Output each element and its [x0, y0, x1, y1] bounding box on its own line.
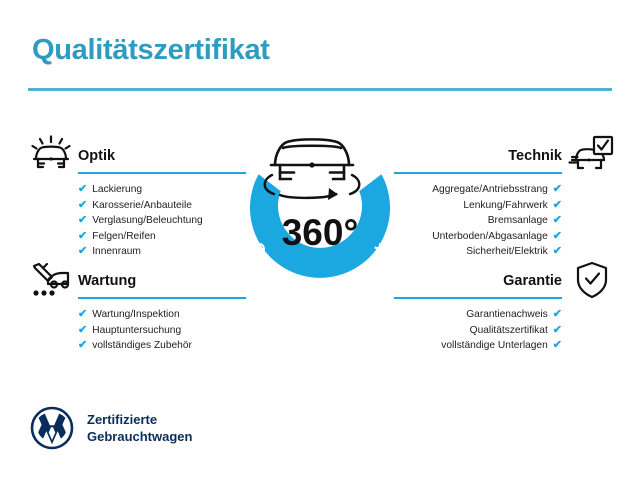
list-item: vollständige Unterlagen✔: [394, 338, 562, 354]
list-item: ✔vollständiges Zubehör: [78, 338, 246, 354]
check-icon: ✔: [553, 198, 562, 214]
section-garantie: Garantie Garantienachweis✔ Qualitätszert…: [394, 271, 562, 354]
section-optik-underline: [78, 172, 246, 174]
list-item: Aggregate/Antriebsstrang✔: [394, 182, 562, 198]
check-icon: ✔: [553, 244, 562, 260]
list-item-label: Qualitätszertifikat: [470, 323, 548, 339]
check-icon: ✔: [78, 213, 87, 229]
list-item-label: Bremsanlage: [488, 213, 548, 229]
list-item-label: Lenkung/Fahrwerk: [463, 198, 547, 214]
section-optik: Optik ✔Lackierung ✔Karosserie/Anbauteile…: [78, 146, 246, 260]
check-icon: ✔: [553, 182, 562, 198]
badge-360-gebrauchtwagen-check: 360° Gebrauchtwagen-Check: [228, 122, 412, 312]
section-optik-title: Optik: [78, 146, 246, 166]
check-icon: ✔: [78, 244, 87, 260]
footer-brand: Zertifizierte Gebrauchtwagen: [30, 406, 192, 450]
list-item: Garantienachweis✔: [394, 307, 562, 323]
footer-line-2: Gebrauchtwagen: [87, 428, 192, 445]
list-item-label: Felgen/Reifen: [92, 229, 155, 245]
list-item-label: Karosserie/Anbauteile: [92, 198, 192, 214]
list-item-label: Wartung/Inspektion: [92, 307, 179, 323]
list-item: ✔Verglasung/Beleuchtung: [78, 213, 246, 229]
car-checkbox-icon: [568, 135, 614, 175]
section-garantie-list: Garantienachweis✔ Qualitätszertifikat✔ v…: [394, 307, 562, 354]
section-wartung-title: Wartung: [78, 271, 246, 291]
check-icon: ✔: [78, 198, 87, 214]
section-wartung: Wartung ✔Wartung/Inspektion ✔Hauptunters…: [78, 271, 246, 354]
list-item-label: Aggregate/Antriebsstrang: [432, 182, 548, 198]
check-icon: ✔: [78, 182, 87, 198]
list-item-label: Innenraum: [92, 244, 141, 260]
car-shine-icon: [28, 135, 74, 175]
check-icon: ✔: [553, 213, 562, 229]
volkswagen-logo: [30, 406, 74, 450]
list-item: Qualitätszertifikat✔: [394, 323, 562, 339]
check-icon: ✔: [78, 338, 87, 354]
list-item-label: vollständige Unterlagen: [441, 338, 547, 354]
check-icon: ✔: [553, 307, 562, 323]
list-item-label: Sicherheit/Elektrik: [466, 244, 548, 260]
section-optik-header: Optik: [78, 146, 246, 174]
list-item: Bremsanlage✔: [394, 213, 562, 229]
list-item: Sicherheit/Elektrik✔: [394, 244, 562, 260]
header-divider: [28, 88, 612, 91]
list-item: ✔Wartung/Inspektion: [78, 307, 246, 323]
list-item: ✔Lackierung: [78, 182, 246, 198]
footer-line-1: Zertifizierte: [87, 411, 192, 428]
section-technik-list: Aggregate/Antriebsstrang✔ Lenkung/Fahrwe…: [394, 182, 562, 260]
footer-brand-text: Zertifizierte Gebrauchtwagen: [87, 411, 192, 445]
shield-check-icon: [573, 260, 611, 300]
section-technik-underline: [394, 172, 562, 174]
list-item-label: Verglasung/Beleuchtung: [92, 213, 202, 229]
list-item-label: Hauptuntersuchung: [92, 323, 181, 339]
list-item-label: Garantienachweis: [466, 307, 548, 323]
badge-center-label: 360°: [282, 212, 359, 253]
section-technik: Technik Aggregate/Antriebsstrang✔ Lenkun…: [394, 146, 562, 260]
section-garantie-underline: [394, 297, 562, 299]
section-garantie-header: Garantie: [394, 271, 562, 299]
section-garantie-title: Garantie: [394, 271, 562, 291]
section-wartung-list: ✔Wartung/Inspektion ✔Hauptuntersuchung ✔…: [78, 307, 246, 354]
list-item-label: vollständiges Zubehör: [92, 338, 192, 354]
page-title: Qualitätszertifikat: [32, 34, 270, 67]
section-optik-list: ✔Lackierung ✔Karosserie/Anbauteile ✔Verg…: [78, 182, 246, 260]
check-icon: ✔: [78, 229, 87, 245]
list-item-label: Unterboden/Abgasanlage: [432, 229, 548, 245]
check-icon: ✔: [553, 323, 562, 339]
list-item-label: Lackierung: [92, 182, 142, 198]
check-icon: ✔: [78, 307, 87, 323]
list-item: Lenkung/Fahrwerk✔: [394, 198, 562, 214]
list-item: ✔Innenraum: [78, 244, 246, 260]
section-technik-title: Technik: [394, 146, 562, 166]
check-icon: ✔: [78, 323, 87, 339]
list-item: Unterboden/Abgasanlage✔: [394, 229, 562, 245]
section-technik-header: Technik: [394, 146, 562, 174]
check-icon: ✔: [553, 338, 562, 354]
check-icon: ✔: [553, 229, 562, 245]
section-wartung-header: Wartung: [78, 271, 246, 299]
car-service-tools-icon: [28, 260, 74, 300]
list-item: ✔Karosserie/Anbauteile: [78, 198, 246, 214]
section-wartung-underline: [78, 297, 246, 299]
list-item: ✔Hauptuntersuchung: [78, 323, 246, 339]
list-item: ✔Felgen/Reifen: [78, 229, 246, 245]
